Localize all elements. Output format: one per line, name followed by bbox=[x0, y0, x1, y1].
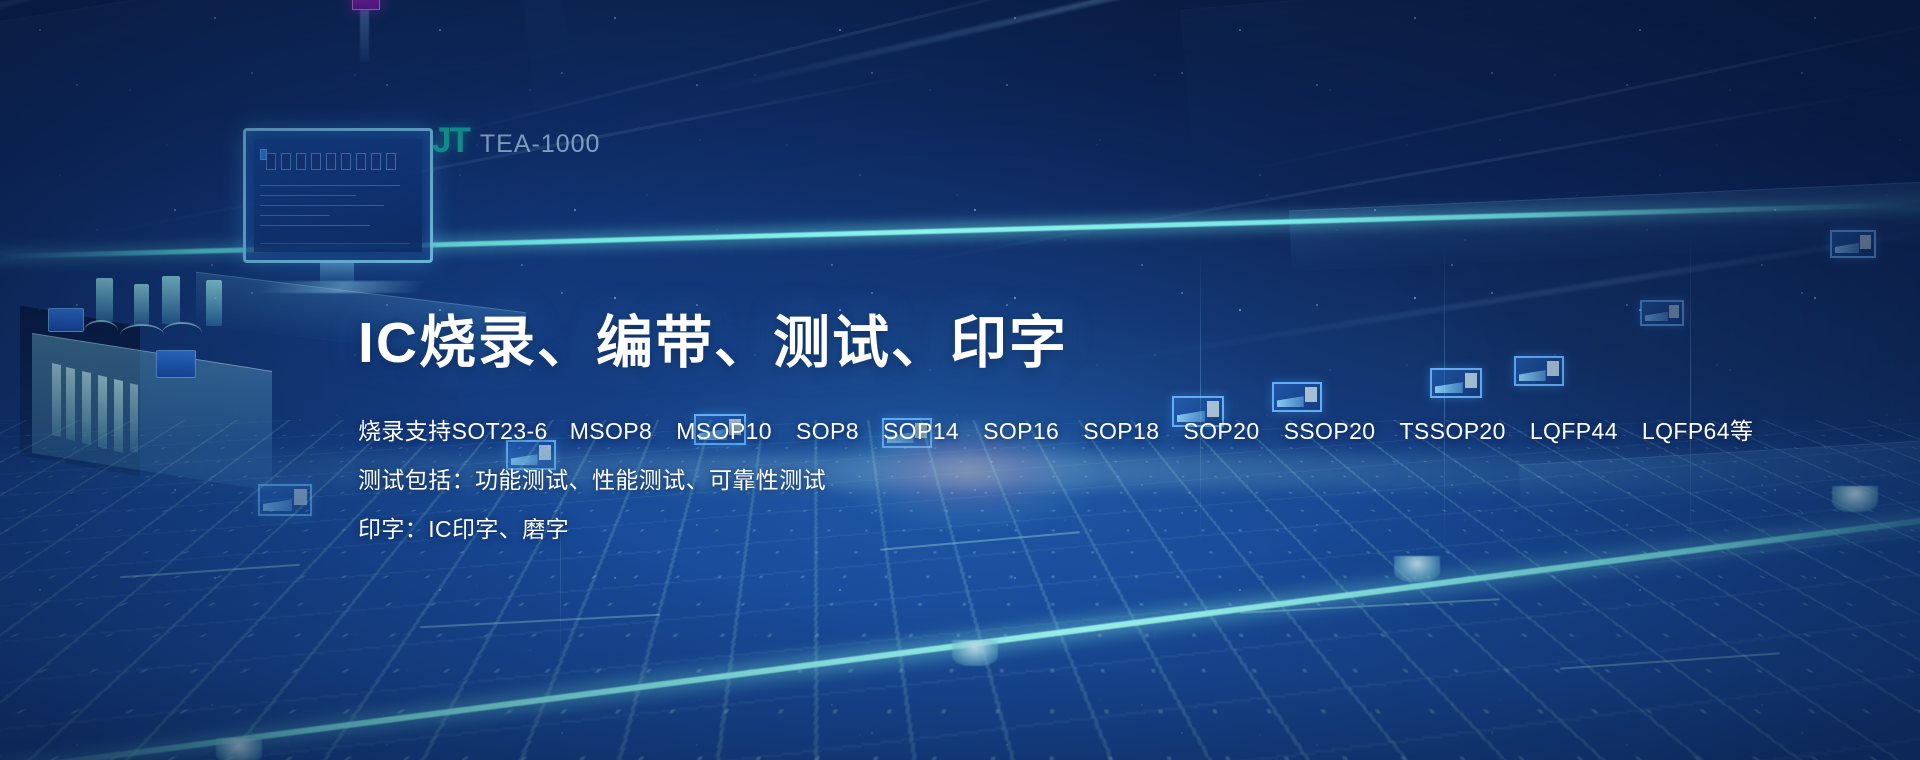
indicator-light-icon bbox=[352, 0, 380, 10]
package-tssop20: TSSOP20 bbox=[1399, 418, 1505, 444]
package-sop18: SOP18 bbox=[1083, 418, 1159, 444]
screen-chip-row bbox=[266, 153, 396, 170]
page-title: IC烧录、编带、测试、印字 bbox=[358, 312, 1608, 376]
package-ssop20: SSOP20 bbox=[1284, 418, 1376, 444]
ic-service-banner: JT TEA-1000 bbox=[0, 0, 1920, 760]
machine-control-box-center bbox=[156, 350, 196, 378]
machine-control-box-left bbox=[48, 308, 84, 332]
logo-mark-jt: JT bbox=[432, 123, 469, 158]
subline-marking-scope: 印字：IC印字、磨字 bbox=[358, 518, 1608, 541]
subline-burn-support: 烧录支持SOT23-6MSOP8MSOP10SOP8SOP14SOP16SOP1… bbox=[358, 420, 1608, 443]
chip-tray-icon-10 bbox=[1640, 300, 1684, 326]
package-lqfp64: LQFP64等 bbox=[1642, 418, 1753, 444]
rail-support-foot-1 bbox=[216, 738, 262, 760]
package-msop10: MSOP10 bbox=[676, 418, 772, 444]
monitor-screen bbox=[254, 139, 422, 252]
monitor-display bbox=[243, 128, 433, 263]
subline-test-scope: 测试包括：功能测试、性能测试、可靠性测试 bbox=[358, 469, 1608, 492]
monitor-stand bbox=[320, 263, 354, 283]
ceiling-pole bbox=[360, 10, 369, 62]
chip-tray-icon-9 bbox=[1830, 230, 1876, 258]
burn-support-lead: 烧录支持SOT23-6 bbox=[358, 418, 548, 444]
service-detail-list: 烧录支持SOT23-6MSOP8MSOP10SOP8SOP14SOP16SOP1… bbox=[358, 420, 1608, 541]
package-sop14: SOP14 bbox=[883, 418, 959, 444]
banner-content: IC烧录、编带、测试、印字 烧录支持SOT23-6MSOP8MSOP10SOP8… bbox=[358, 312, 1608, 541]
package-sop16: SOP16 bbox=[983, 418, 1059, 444]
rail-support-foot-2 bbox=[952, 640, 998, 666]
package-sop8: SOP8 bbox=[796, 418, 859, 444]
package-sop20: SOP20 bbox=[1183, 418, 1259, 444]
rail-support-foot-3 bbox=[1394, 556, 1440, 582]
package-msop8: MSOP8 bbox=[570, 418, 653, 444]
rail-support-foot-4 bbox=[1832, 486, 1878, 512]
logo-model-text: TEA-1000 bbox=[480, 132, 601, 157]
brand-logo: JT TEA-1000 bbox=[432, 123, 600, 158]
package-lqfp44: LQFP44 bbox=[1530, 418, 1618, 444]
